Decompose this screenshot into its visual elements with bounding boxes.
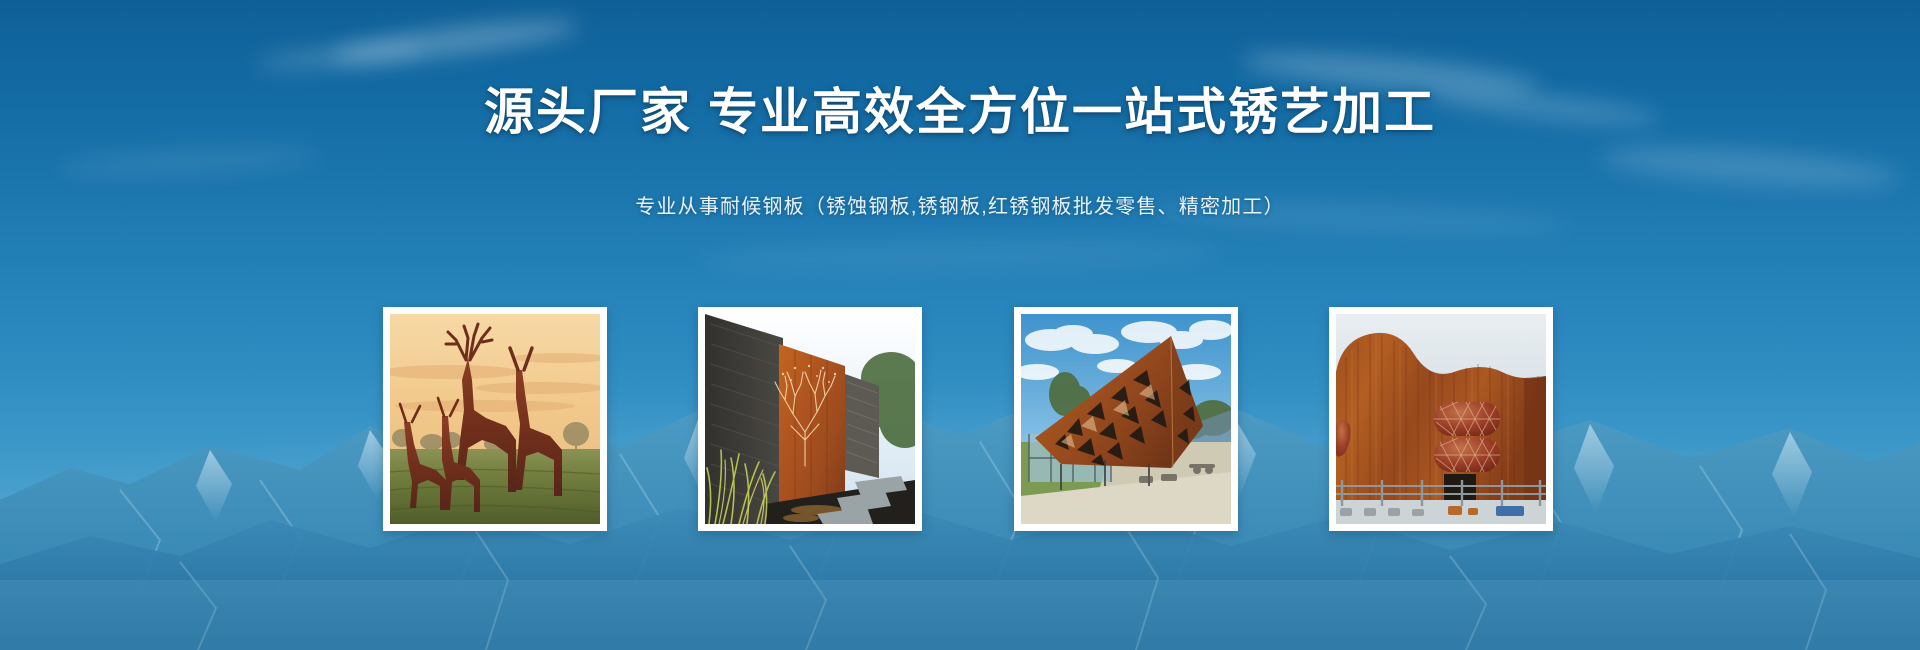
hero-banner: 源头厂家 专业高效全方位一站式锈艺加工 专业从事耐候钢板（锈蚀钢板,锈钢板,红锈… [0,0,1920,650]
gallery-item-corten-deer-sculpture[interactable] [383,307,607,531]
product-gallery [383,307,1553,531]
photo-corten-garden-screen [705,314,915,524]
page-title: 源头厂家 专业高效全方位一站式锈艺加工 [0,84,1920,142]
page-subtitle: 专业从事耐候钢板（锈蚀钢板,锈钢板,红锈钢板批发零售、精密加工） [0,190,1920,219]
gallery-item-corten-triangular-pavilion[interactable] [1014,307,1238,531]
photo-corten-curved-facade [1336,314,1546,524]
gallery-item-corten-garden-screen[interactable] [698,307,922,531]
gallery-item-corten-curved-facade[interactable] [1329,307,1553,531]
photo-corten-triangular-pavilion [1021,314,1231,524]
photo-corten-deer-sculpture [390,314,600,524]
